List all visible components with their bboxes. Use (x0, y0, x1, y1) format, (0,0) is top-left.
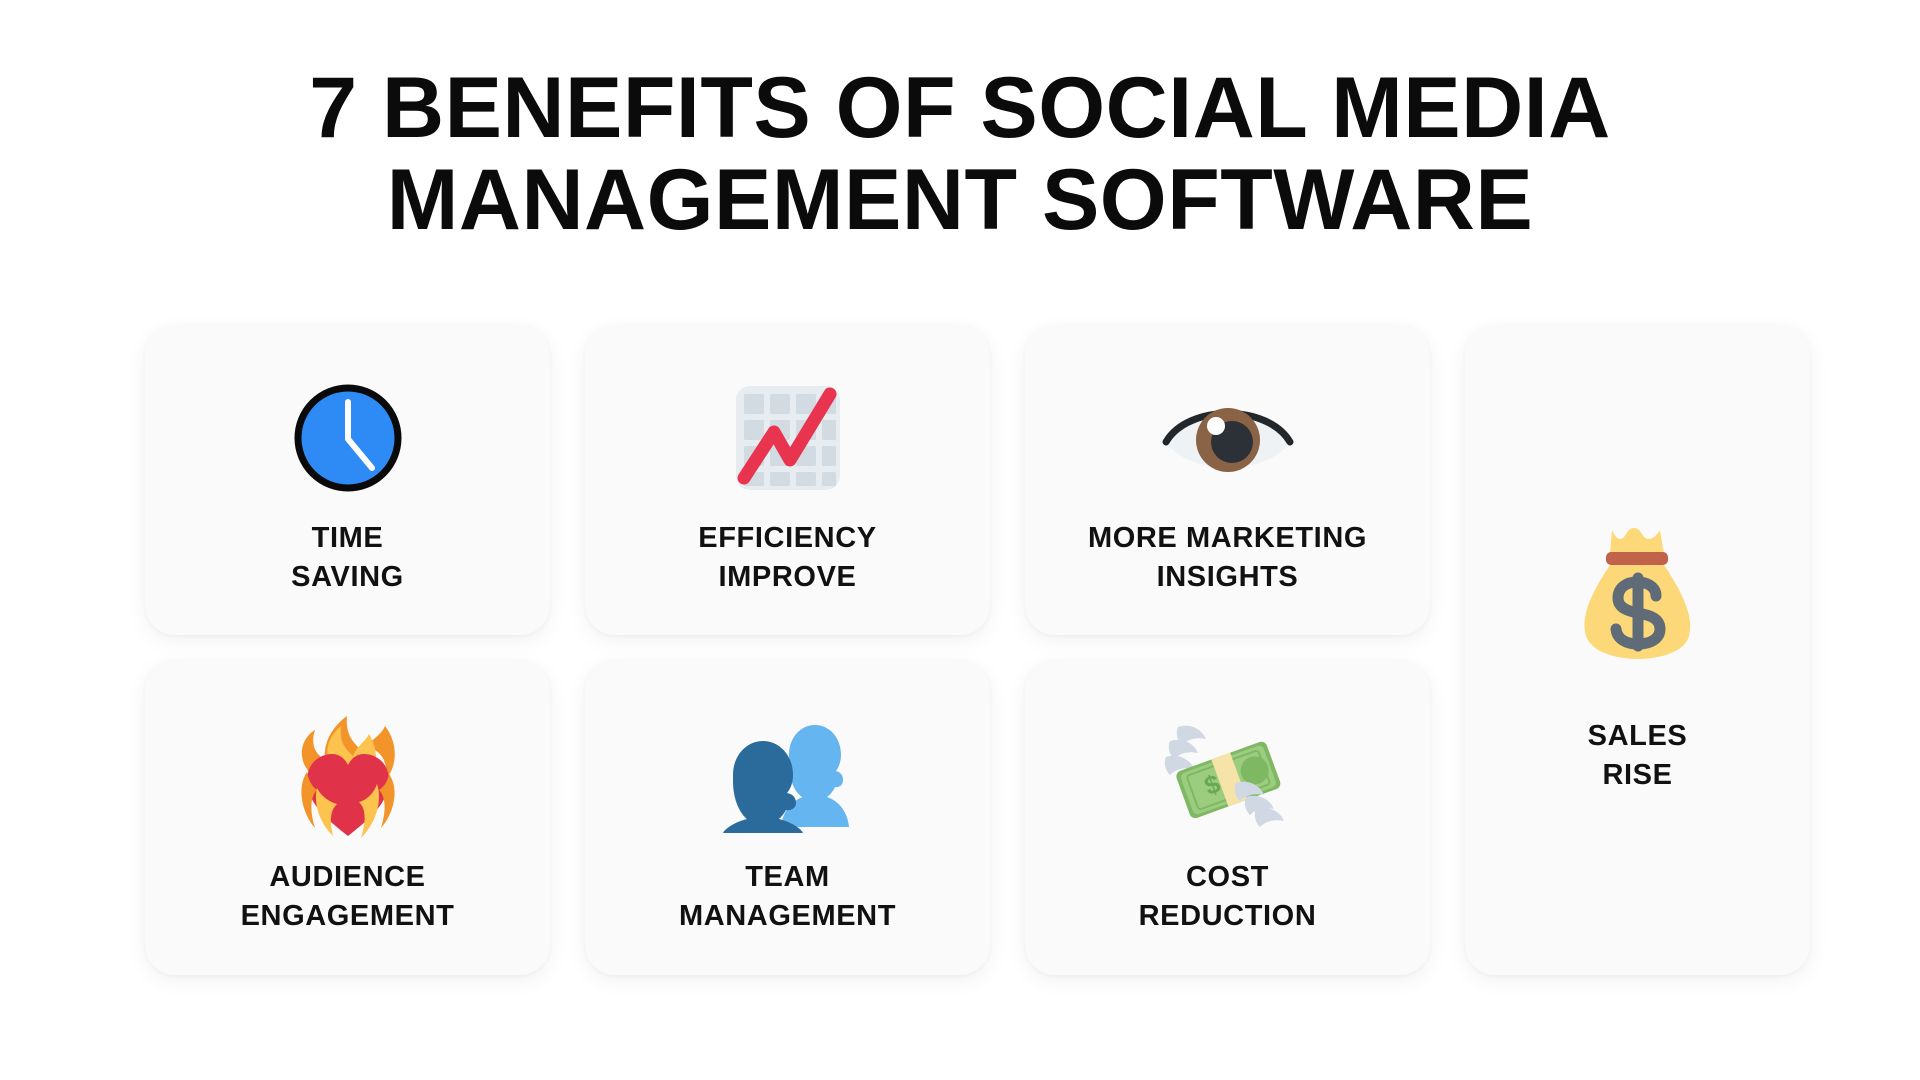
benefit-card-more-marketing-insights[interactable]: More Marketing Insights (1025, 325, 1430, 635)
eye-icon-wrap (1162, 363, 1294, 513)
infographic-root: 7 Benefits of Social Media Management So… (0, 0, 1920, 1080)
heart-on-fire-icon (289, 712, 407, 842)
benefit-card-time-saving[interactable]: Time Saving (145, 325, 550, 635)
page-title-line-1: 7 Benefits of Social Media (120, 62, 1800, 154)
money-with-wings-icon: $ (1164, 721, 1292, 833)
benefit-card-efficiency-improve[interactable]: Efficiency Improve (585, 325, 990, 635)
benefit-card-label: Audience Engagement (241, 858, 455, 935)
benefit-card-label: Sales Rise (1588, 717, 1688, 794)
clock-icon (292, 382, 404, 494)
benefit-card-label: Time Saving (291, 519, 404, 596)
heart-on-fire-icon-wrap (289, 702, 407, 852)
money-bag-icon-wrap (1576, 505, 1700, 675)
chart-increasing-icon (730, 380, 846, 496)
busts-in-silhouette-icon-wrap (725, 702, 851, 852)
benefit-card-cost-reduction[interactable]: $ Cost Reduction (1025, 660, 1430, 975)
benefit-card-label: Cost Reduction (1139, 858, 1317, 935)
benefits-grid: Time Saving (145, 325, 1810, 975)
page-title: 7 Benefits of Social Media Management So… (0, 62, 1920, 246)
benefit-card-label: Team Management (679, 858, 896, 935)
benefit-card-label: More Marketing Insights (1088, 519, 1367, 596)
clock-icon-wrap (292, 363, 404, 513)
benefit-card-sales-rise[interactable]: Sales Rise (1465, 325, 1810, 975)
money-with-wings-icon-wrap: $ (1164, 702, 1292, 852)
eye-icon (1162, 390, 1294, 486)
benefit-card-team-management[interactable]: Team Management (585, 660, 990, 975)
page-title-line-2: Management Software (120, 154, 1800, 246)
chart-increasing-icon-wrap (730, 363, 846, 513)
money-bag-icon (1576, 520, 1700, 660)
busts-in-silhouette-icon (725, 721, 851, 833)
benefit-card-audience-engagement[interactable]: Audience Engagement (145, 660, 550, 975)
benefit-card-label: Efficiency Improve (698, 519, 876, 596)
